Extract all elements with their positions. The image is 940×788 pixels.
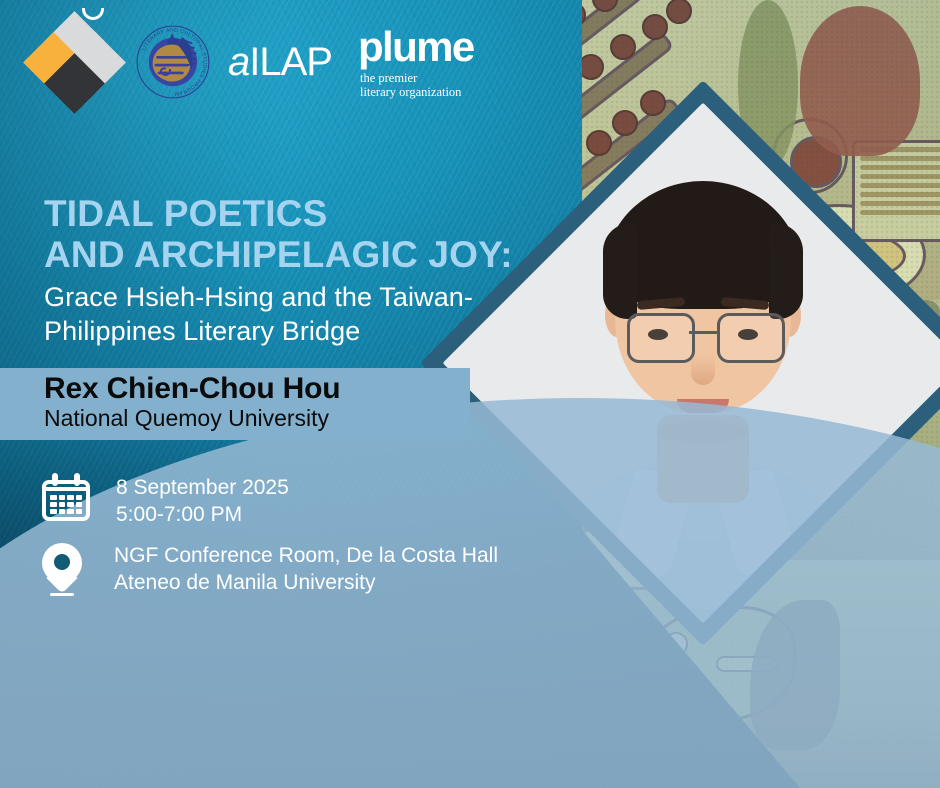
event-subtitle: Grace Hsieh-Hsing and the Taiwan- Philip…	[44, 280, 473, 349]
location-row: NGF Conference Room, De la Costa Hall At…	[42, 543, 498, 597]
ailap-seal-logo: LITERARY AND CULTURAL STUDIES PROGRAM	[134, 23, 212, 101]
date-row: 8 September 2025 5:00-7:00 PM	[42, 473, 289, 529]
date-time-text: 8 September 2025 5:00-7:00 PM	[116, 475, 289, 529]
ailap-wordmark: aaILAPILAP	[228, 42, 332, 82]
plume-wordmark: plume	[358, 26, 474, 68]
event-title: TIDAL POETICS AND ARCHIPELAGIC JOY:	[44, 193, 513, 276]
poster-content: TIDAL POETICS AND ARCHIPELAGIC JOY: Grac…	[0, 0, 940, 788]
plume-logo: plume the premier literary organization	[358, 26, 474, 99]
four-diamond-logo	[30, 18, 118, 106]
speaker-affiliation: National Quemoy University	[44, 406, 329, 431]
venue-text: NGF Conference Room, De la Costa Hall At…	[114, 543, 498, 597]
location-pin-icon	[42, 543, 82, 595]
calendar-icon	[42, 473, 90, 521]
logo-row: LITERARY AND CULTURAL STUDIES PROGRAM aa…	[30, 18, 474, 106]
speaker-name: Rex Chien-Chou Hou	[44, 372, 340, 405]
event-poster: OF THE ROAD 143	[0, 0, 940, 788]
plume-tagline: the premier literary organization	[360, 71, 474, 99]
